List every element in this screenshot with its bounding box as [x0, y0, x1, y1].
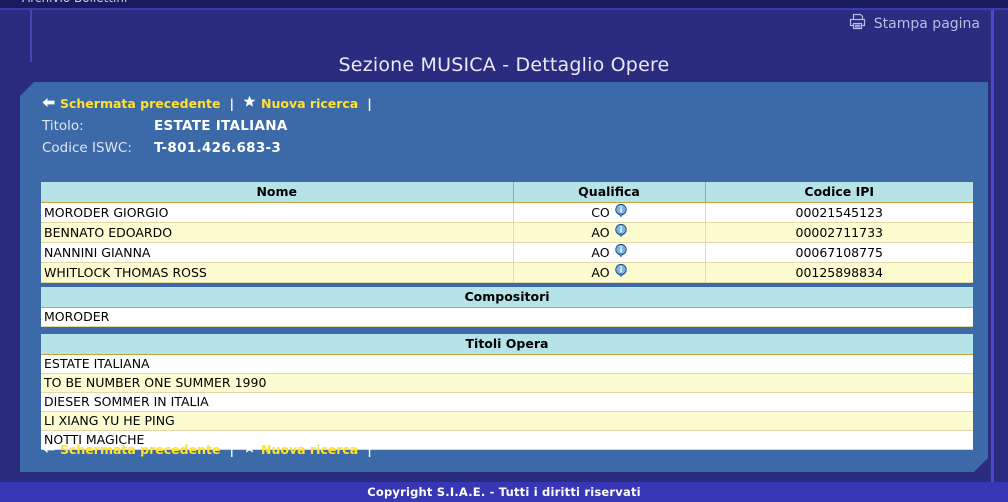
page-title: Sezione MUSICA - Dettaglio Opere — [0, 54, 1008, 76]
table-row: NANNINI GIANNA AO — [41, 243, 973, 263]
column-header-nome: Nome — [41, 182, 513, 203]
back-link-top[interactable]: Schermata precedente — [60, 96, 220, 111]
column-header-qualifica: Qualifica — [513, 182, 705, 203]
composers-table: Compositori MORODER — [41, 287, 973, 327]
table-row: MORODER GIORGIO CO — [41, 203, 973, 223]
column-header-codice-ipi: Codice IPI — [705, 182, 973, 203]
qualifica-value: AO — [591, 245, 609, 260]
right-accent-rail — [991, 10, 994, 482]
titles-table: Titoli Opera ESTATE ITALIANA TO BE NUMBE… — [41, 334, 973, 450]
nav-separator-4: | — [367, 442, 372, 457]
cell-qualifica: AO — [513, 223, 705, 243]
field-codice-iswc-label: Codice ISWC: — [42, 140, 154, 156]
new-search-link-bottom[interactable]: Nuova ricerca — [261, 442, 358, 457]
authors-table: Nome Qualifica Codice IPI MORODER GIORGI… — [41, 182, 973, 283]
star-icon — [243, 95, 256, 111]
cell-qualifica: AO — [513, 263, 705, 283]
table-row: WHITLOCK THOMAS ROSS AO — [41, 263, 973, 283]
cell-codice-ipi: 00021545123 — [705, 203, 973, 223]
field-codice-iswc-value: T-801.426.683-3 — [154, 140, 281, 156]
column-header-compositori: Compositori — [41, 287, 973, 308]
printer-icon — [848, 13, 867, 34]
table-row: LI XIANG YU HE PING — [41, 412, 973, 431]
cell-codice-ipi: 00002711733 — [705, 223, 973, 243]
cell-titolo: ESTATE ITALIANA — [41, 355, 973, 374]
info-icon[interactable] — [615, 244, 627, 260]
table-row: ESTATE ITALIANA — [41, 355, 973, 374]
table-header-row: Titoli Opera — [41, 334, 973, 355]
table-row: BENNATO EDOARDO AO — [41, 223, 973, 243]
field-titolo-value: ESTATE ITALIANA — [154, 118, 288, 134]
print-page-label: Stampa pagina — [874, 16, 980, 32]
field-titolo-label: Titolo: — [42, 118, 154, 134]
table-row: DIESER SOMMER IN ITALIA — [41, 393, 973, 412]
cell-qualifica: CO — [513, 203, 705, 223]
app-title-label: Archivio Bollettini — [22, 0, 127, 5]
copyright-text: Copyright S.I.A.E. - Tutti i diritti ris… — [367, 485, 641, 499]
star-icon — [243, 441, 256, 457]
cell-titolo: DIESER SOMMER IN ITALIA — [41, 393, 973, 412]
table-header-row: Nome Qualifica Codice IPI — [41, 182, 973, 203]
footer-bar: Copyright S.I.A.E. - Tutti i diritti ris… — [0, 482, 1008, 502]
cell-nome: NANNINI GIANNA — [41, 243, 513, 263]
cell-nome: WHITLOCK THOMAS ROSS — [41, 263, 513, 283]
nav-separator-1: | — [229, 96, 234, 111]
cell-codice-ipi: 00125898834 — [705, 263, 973, 283]
back-link-bottom[interactable]: Schermata precedente — [60, 442, 220, 457]
arrow-left-icon — [42, 442, 55, 457]
table-header-row: Compositori — [41, 287, 973, 308]
info-icon[interactable] — [615, 264, 627, 280]
nav-separator-3: | — [229, 442, 234, 457]
app-title-strip: Archivio Bollettini — [0, 0, 1008, 8]
cell-compositore: MORODER — [41, 308, 973, 327]
cell-codice-ipi: 00067108775 — [705, 243, 973, 263]
cell-titolo: TO BE NUMBER ONE SUMMER 1990 — [41, 374, 973, 393]
field-titolo: Titolo:ESTATE ITALIANA — [42, 118, 288, 134]
arrow-left-icon — [42, 96, 55, 111]
cell-nome: BENNATO EDOARDO — [41, 223, 513, 243]
qualifica-value: CO — [591, 205, 610, 220]
table-row: TO BE NUMBER ONE SUMMER 1990 — [41, 374, 973, 393]
column-header-titoli-opera: Titoli Opera — [41, 334, 973, 355]
nav-links-top: Schermata precedente | Nuova ricerca | — [42, 95, 381, 111]
info-icon[interactable] — [615, 204, 627, 220]
nav-separator-2: | — [367, 96, 372, 111]
table-row: MORODER — [41, 308, 973, 327]
nav-links-bottom: Schermata precedente | Nuova ricerca | — [42, 441, 381, 457]
info-icon[interactable] — [615, 224, 627, 240]
cell-qualifica: AO — [513, 243, 705, 263]
content-panel: Schermata precedente | Nuova ricerca | T… — [20, 82, 988, 472]
new-search-link-top[interactable]: Nuova ricerca — [261, 96, 358, 111]
cell-titolo: LI XIANG YU HE PING — [41, 412, 973, 431]
cell-nome: MORODER GIORGIO — [41, 203, 513, 223]
qualifica-value: AO — [591, 225, 609, 240]
field-codice-iswc: Codice ISWC:T-801.426.683-3 — [42, 140, 281, 156]
print-page-button[interactable]: Stampa pagina — [848, 13, 980, 34]
qualifica-value: AO — [591, 265, 609, 280]
